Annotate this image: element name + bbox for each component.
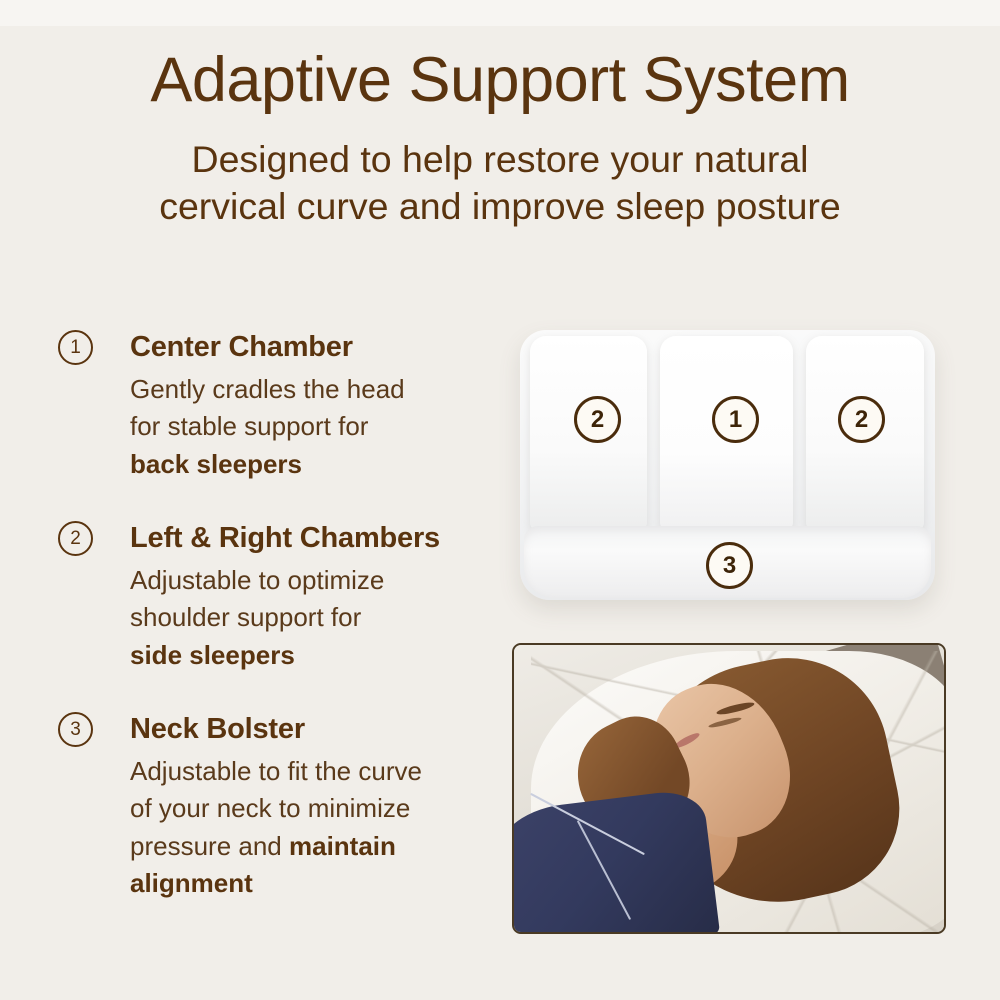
feature-number-badge-3: 3 bbox=[58, 712, 93, 747]
feature-number-badge-2: 2 bbox=[58, 521, 93, 556]
feature-desc-line: Gently cradles the head bbox=[130, 374, 405, 404]
feature-title-2: Left & Right Chambers bbox=[130, 521, 488, 556]
feature-list: 1 Center Chamber Gently cradles the head… bbox=[58, 330, 488, 903]
pillow-body: 2 1 2 3 bbox=[520, 330, 935, 600]
feature-description-3: Adjustable to fit the curve of your neck… bbox=[130, 753, 488, 903]
photo-pajama-top bbox=[512, 787, 720, 934]
pillow-badge-center-chamber: 1 bbox=[712, 396, 759, 443]
feature-desc-line: for stable support for bbox=[130, 411, 368, 441]
list-item: 2 Left & Right Chambers Adjustable to op… bbox=[58, 521, 488, 674]
pillow-diagram: 2 1 2 3 bbox=[512, 322, 942, 612]
feature-desc-emphasis: side sleepers bbox=[130, 640, 295, 670]
feature-title-3: Neck Bolster bbox=[130, 712, 488, 747]
top-edge-strip bbox=[0, 0, 1000, 26]
header: Adaptive Support System Designed to help… bbox=[0, 46, 1000, 229]
pillow-badge-right-chamber: 2 bbox=[838, 396, 885, 443]
list-item: 1 Center Chamber Gently cradles the head… bbox=[58, 330, 488, 483]
sleeping-woman-photo bbox=[512, 643, 946, 934]
subtitle-line-2: cervical curve and improve sleep posture bbox=[0, 183, 1000, 230]
feature-desc-line: pressure and bbox=[130, 831, 282, 861]
page-title: Adaptive Support System bbox=[0, 46, 1000, 114]
subtitle-line-1: Designed to help restore your natural bbox=[0, 136, 1000, 183]
feature-desc-line: Adjustable to fit the curve bbox=[130, 756, 422, 786]
feature-desc-emphasis: back sleepers bbox=[130, 449, 302, 479]
page-subtitle: Designed to help restore your natural ce… bbox=[0, 136, 1000, 229]
feature-desc-line: Adjustable to optimize bbox=[130, 565, 384, 595]
feature-title-1: Center Chamber bbox=[130, 330, 488, 365]
feature-description-1: Gently cradles the head for stable suppo… bbox=[130, 371, 488, 483]
feature-number-badge-1: 1 bbox=[58, 330, 93, 365]
feature-desc-line: shoulder support for bbox=[130, 602, 361, 632]
pillow-badge-left-chamber: 2 bbox=[574, 396, 621, 443]
feature-desc-line: of your neck to minimize bbox=[130, 793, 410, 823]
pillow-badge-neck-bolster: 3 bbox=[706, 542, 753, 589]
list-item: 3 Neck Bolster Adjustable to fit the cur… bbox=[58, 712, 488, 903]
feature-description-2: Adjustable to optimize shoulder support … bbox=[130, 562, 488, 674]
